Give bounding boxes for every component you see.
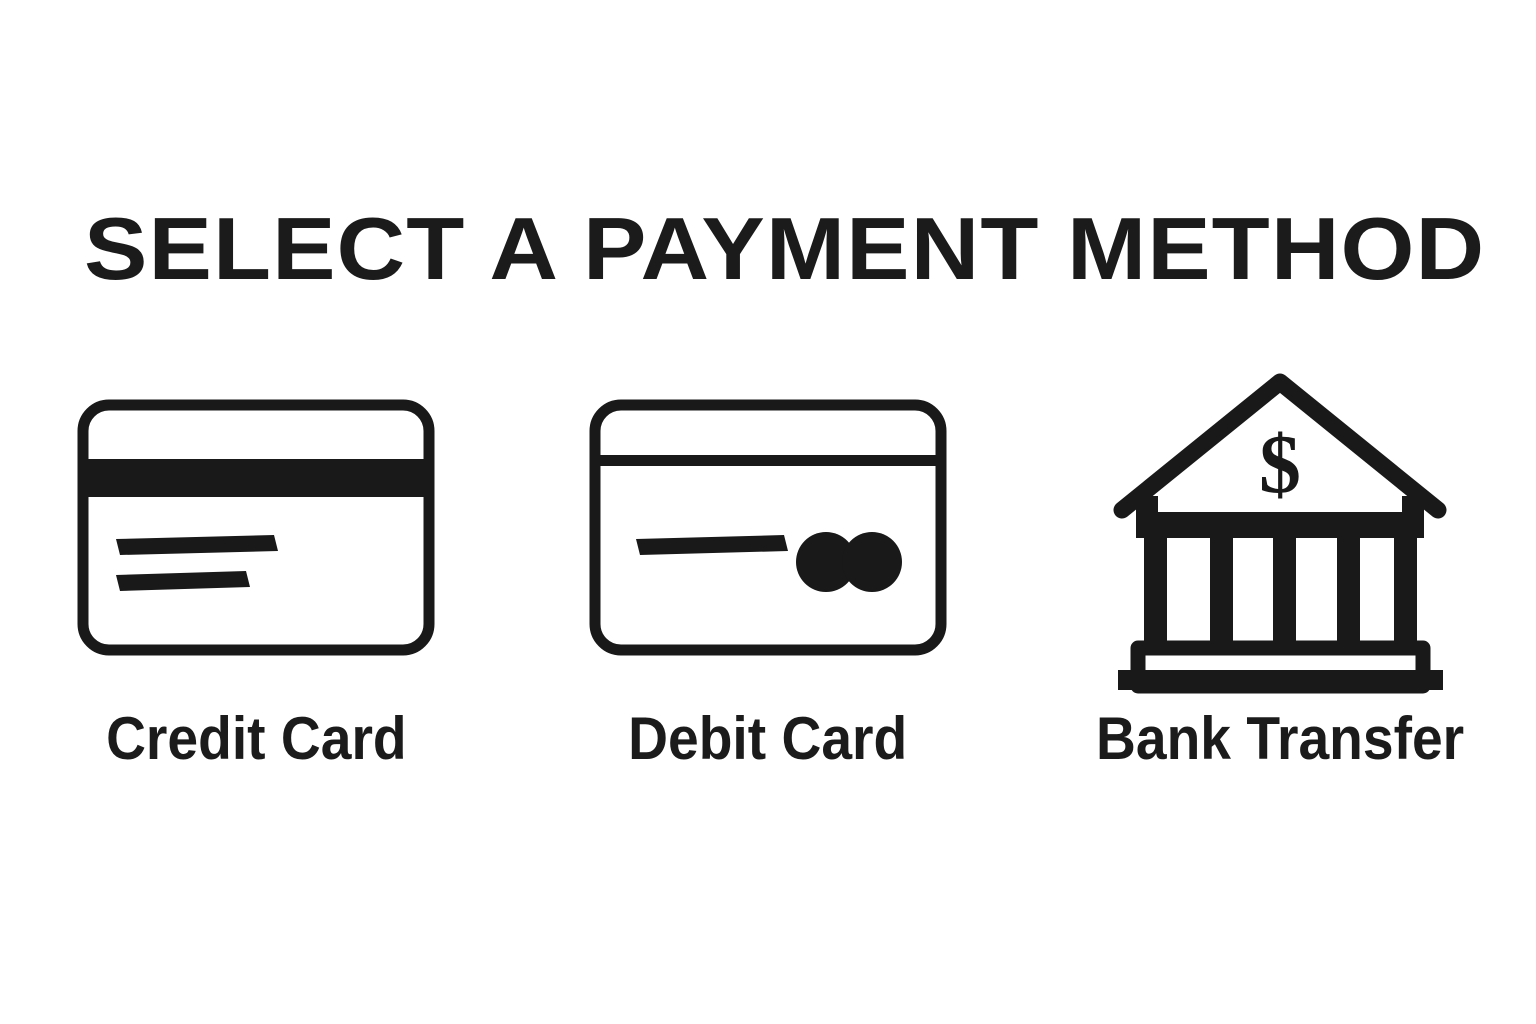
- divider-bar: [596, 455, 940, 466]
- column-5: [1394, 538, 1417, 648]
- column-4: [1337, 538, 1360, 648]
- magnetic-stripe: [84, 459, 428, 497]
- dollar-sign-glyph: $: [1259, 418, 1301, 511]
- four-columns: [1144, 538, 1417, 648]
- dual-circles-logo: [796, 532, 902, 592]
- signature-line-long: [116, 535, 278, 555]
- payment-option-label-credit-card: Credit Card: [106, 706, 407, 772]
- payment-option-credit-card[interactable]: Credit Card: [0, 370, 512, 840]
- payment-method-screen: SELECT A PAYMENT METHOD Credit Card: [0, 0, 1536, 1024]
- payment-options-row: Credit Card Debit Card: [0, 370, 1536, 840]
- payment-option-label-debit-card: Debit Card: [628, 706, 907, 772]
- page-title: SELECT A PAYMENT METHOD: [84, 201, 1488, 297]
- signature-line-short: [116, 571, 250, 591]
- credit-card-graphic: [76, 398, 436, 673]
- rounded-card-outline: [595, 405, 941, 650]
- column-2: [1210, 538, 1233, 648]
- debit-card-graphic: [588, 398, 948, 673]
- payment-option-bank-transfer[interactable]: $ Bank Transfe: [1024, 370, 1536, 840]
- bank-building-graphic: $: [1110, 370, 1450, 700]
- column-3: [1273, 538, 1296, 648]
- logo-circle-right: [842, 532, 902, 592]
- credit-card-icon[interactable]: [76, 370, 436, 700]
- base-plinth: [1118, 670, 1443, 690]
- payment-option-debit-card[interactable]: Debit Card: [512, 370, 1024, 840]
- debit-card-icon[interactable]: [588, 370, 948, 700]
- bank-building-icon[interactable]: $: [1100, 370, 1460, 700]
- dollar-sign-icon: $: [1259, 418, 1301, 511]
- payment-option-label-bank-transfer: Bank Transfer: [1096, 706, 1464, 772]
- signature-line: [636, 535, 788, 555]
- column-1: [1144, 538, 1167, 648]
- rounded-card-outline: [83, 405, 429, 650]
